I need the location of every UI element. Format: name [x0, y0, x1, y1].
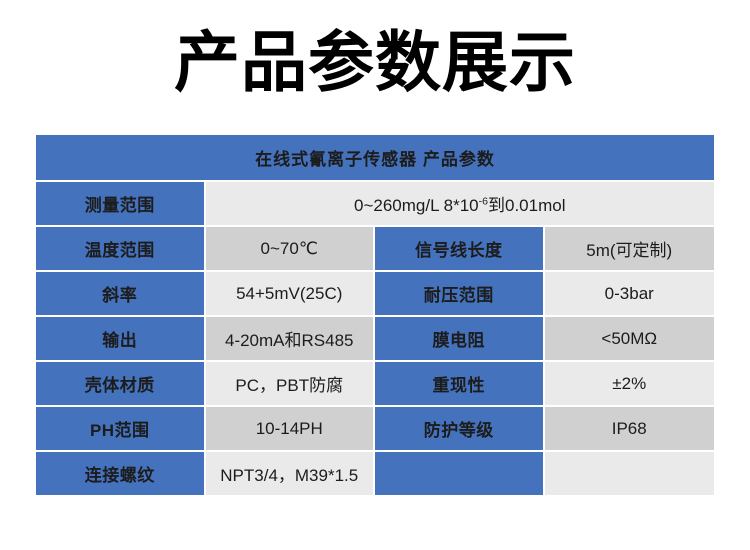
row-value-output: 4-20mA和RS485: [206, 317, 376, 360]
table-header-title: 在线式氰离子传感器 产品参数: [36, 135, 714, 180]
row-label-pressure-range: 耐压范围: [375, 272, 545, 315]
row-value-housing-material: PC，PBT防腐: [206, 362, 376, 405]
row-label-ph-range: PH范围: [36, 407, 206, 450]
table-header-row: 在线式氰离子传感器 产品参数: [36, 135, 714, 180]
table-row: 温度范围 0~70℃ 信号线长度 5m(可定制): [36, 227, 714, 270]
row-label-protection-level: 防护等级: [375, 407, 545, 450]
row-label-slope: 斜率: [36, 272, 206, 315]
row-value-ph-range: 10-14PH: [206, 407, 376, 450]
table-body: 在线式氰离子传感器 产品参数 测量范围 0~260mg/L 8*10-6到0.0…: [36, 135, 714, 495]
row-value-pressure-range: 0-3bar: [545, 272, 715, 315]
row-label-housing-material: 壳体材质: [36, 362, 206, 405]
row-label-empty: [375, 452, 545, 495]
table-row: 壳体材质 PC，PBT防腐 重现性 ±2%: [36, 362, 714, 405]
row-value-measurement-range: 0~260mg/L 8*10-6到0.01mol: [206, 182, 715, 225]
row-value-signal-cable-length: 5m(可定制): [545, 227, 715, 270]
measurement-range-suffix: 到0.01mol: [488, 196, 565, 215]
row-label-temperature-range: 温度范围: [36, 227, 206, 270]
product-parameters-table: 在线式氰离子传感器 产品参数 测量范围 0~260mg/L 8*10-6到0.0…: [36, 133, 714, 497]
table-row: 输出 4-20mA和RS485 膜电阻 <50MΩ: [36, 317, 714, 360]
row-label-signal-cable-length: 信号线长度: [375, 227, 545, 270]
page-title: 产品参数展示: [0, 24, 750, 102]
row-value-empty: [545, 452, 715, 495]
row-label-reproducibility: 重现性: [375, 362, 545, 405]
table-row: 测量范围 0~260mg/L 8*10-6到0.01mol: [36, 182, 714, 225]
row-value-slope: 54+5mV(25C): [206, 272, 376, 315]
row-value-membrane-resistance: <50MΩ: [545, 317, 715, 360]
table-row: 斜率 54+5mV(25C) 耐压范围 0-3bar: [36, 272, 714, 315]
table-row: 连接螺纹 NPT3/4，M39*1.5: [36, 452, 714, 495]
row-label-output: 输出: [36, 317, 206, 360]
row-value-temperature-range: 0~70℃: [206, 227, 376, 270]
table-row: PH范围 10-14PH 防护等级 IP68: [36, 407, 714, 450]
row-label-connection-thread: 连接螺纹: [36, 452, 206, 495]
row-label-measurement-range: 测量范围: [36, 182, 206, 225]
measurement-range-text: 0~260mg/L 8*10-6到0.01mol: [354, 191, 565, 216]
measurement-range-prefix: 0~260mg/L 8*10: [354, 196, 479, 215]
row-value-reproducibility: ±2%: [545, 362, 715, 405]
measurement-range-exponent: -6: [479, 195, 488, 207]
row-value-connection-thread: NPT3/4，M39*1.5: [206, 452, 376, 495]
row-value-protection-level: IP68: [545, 407, 715, 450]
product-spec-page: 产品参数展示 在线式氰离子传感器 产品参数 测量范围 0~260mg/L 8*1…: [0, 0, 750, 550]
row-label-membrane-resistance: 膜电阻: [375, 317, 545, 360]
